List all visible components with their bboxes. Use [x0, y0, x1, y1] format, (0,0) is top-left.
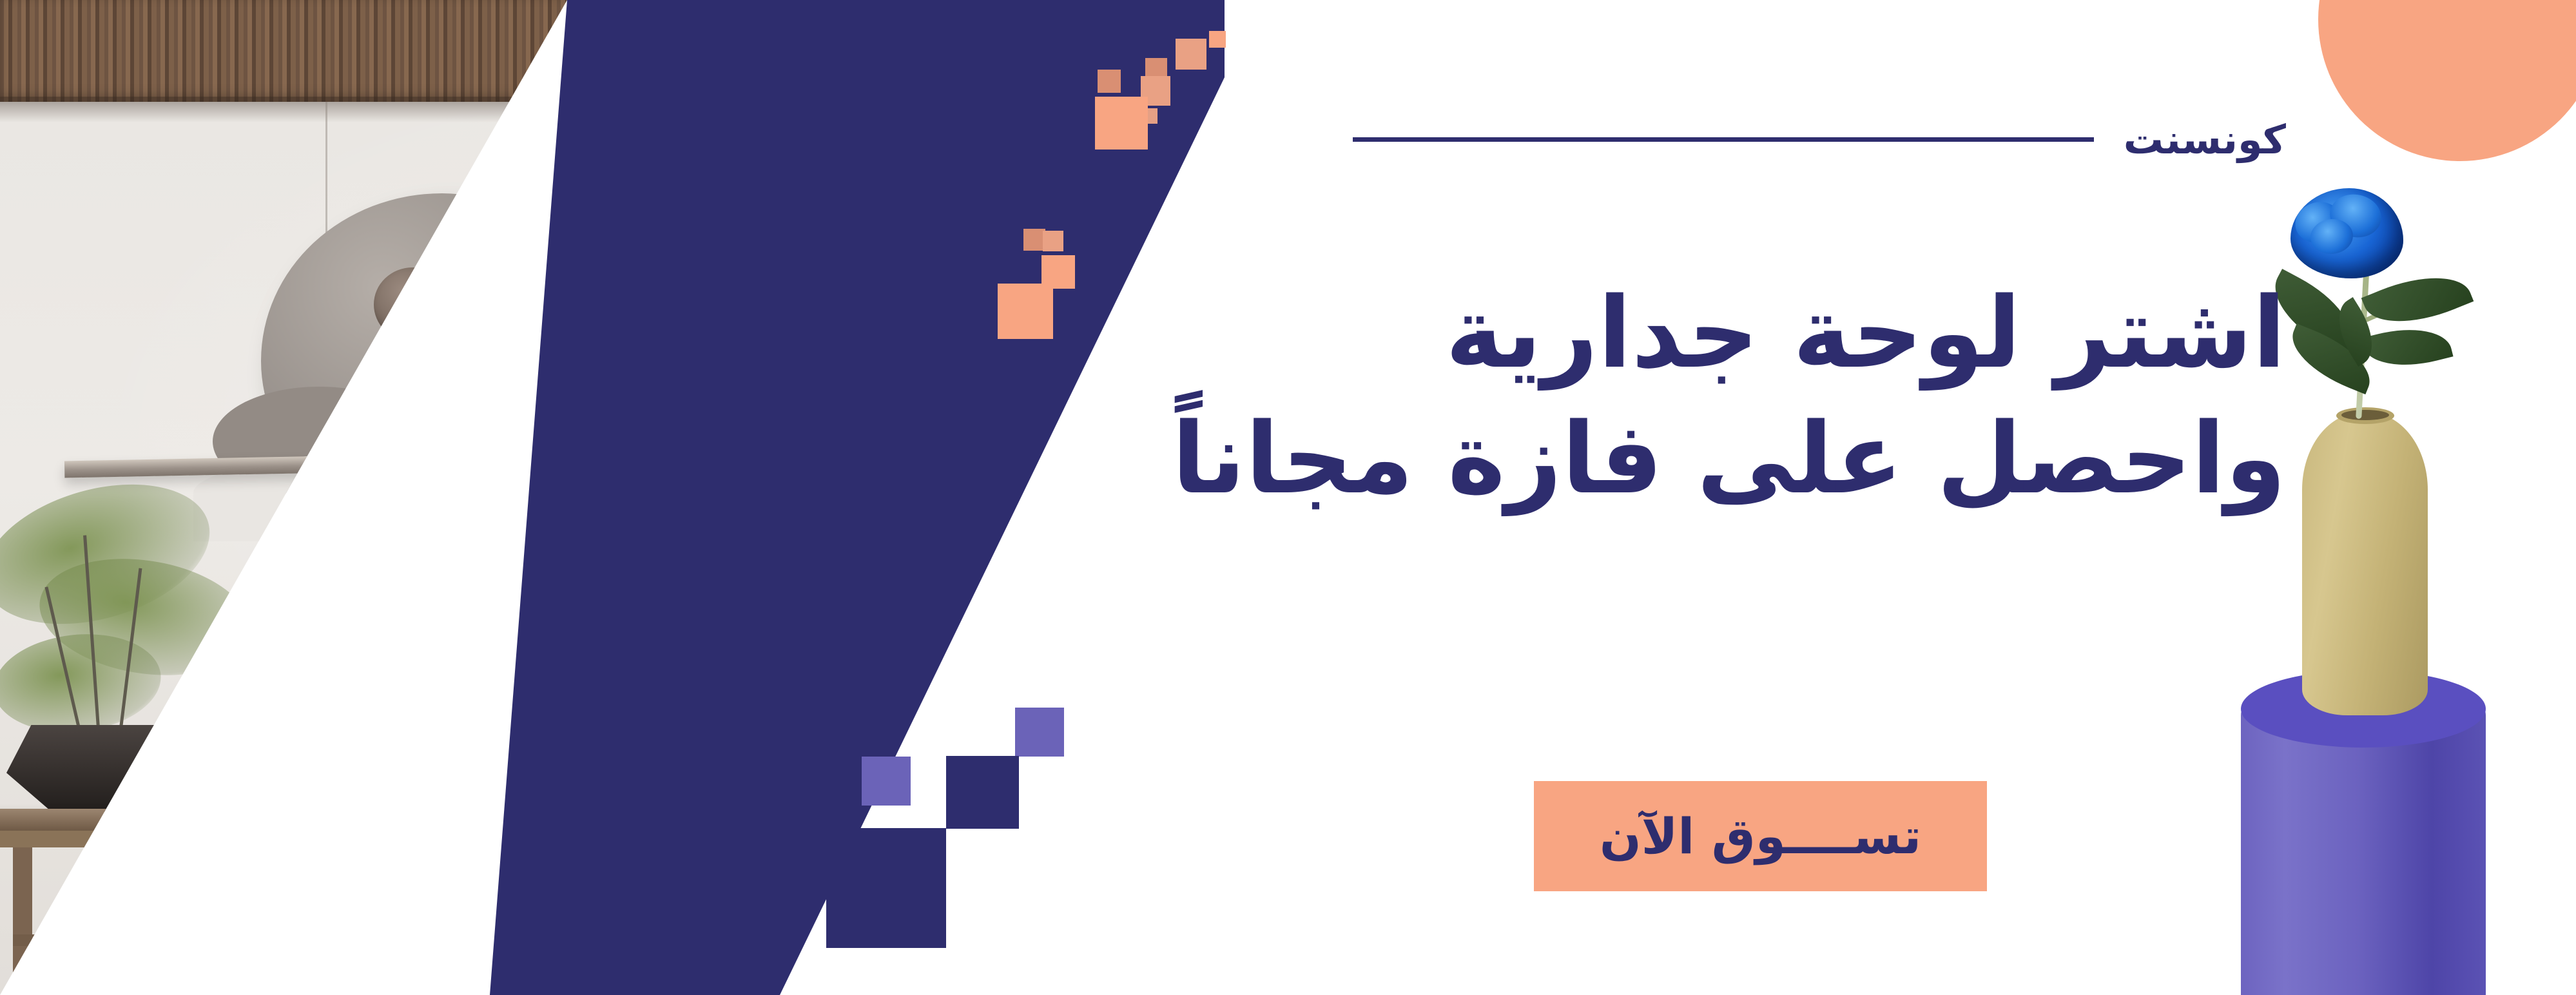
console-table-stretcher: [13, 934, 503, 946]
wave-sculpture: [361, 377, 554, 483]
brand-rule: [1353, 137, 2094, 142]
wall-seam: [325, 102, 327, 907]
wall-art-knob: [374, 267, 451, 342]
table-objet: [470, 768, 504, 812]
decor-square: [1098, 70, 1121, 93]
decor-square: [946, 756, 1019, 829]
brand-row: كونسنت: [1353, 116, 2286, 163]
dark-planter: [6, 725, 213, 812]
decor-square: [998, 284, 1053, 339]
decor-square: [826, 828, 946, 948]
shop-now-button[interactable]: تســــوق الآن: [1534, 781, 1987, 891]
headline-line-2: واحصل على فازة مجاناً: [1384, 396, 2286, 522]
decor-square: [1176, 39, 1206, 70]
page-title: اشتر لوحة جدارية واحصل على فازة مجاناً: [1384, 271, 2286, 521]
decor-square: [862, 757, 911, 806]
decor-square: [1023, 229, 1045, 251]
console-table-leg: [13, 847, 32, 995]
banner-content: كونسنت اشتر لوحة جدارية واحصل على فازة م…: [1223, 0, 2576, 995]
decor-square: [1043, 231, 1063, 251]
brand-name: كونسنت: [2124, 116, 2286, 163]
decor-square: [1095, 97, 1148, 150]
decor-square: [1015, 708, 1064, 757]
headline-line-1: اشتر لوحة جدارية: [1384, 271, 2286, 396]
promo-banner: كونسنت اشتر لوحة جدارية واحصل على فازة م…: [0, 0, 2576, 995]
